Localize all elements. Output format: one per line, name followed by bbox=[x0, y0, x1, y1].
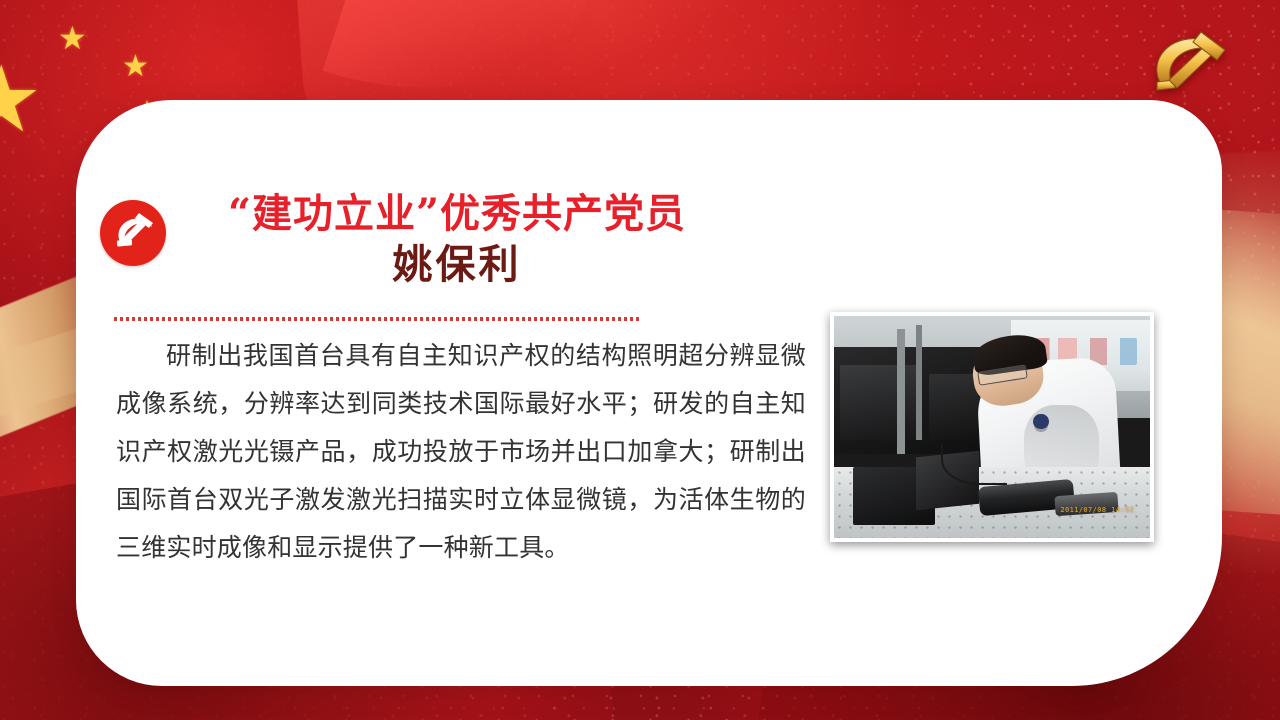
photo-timestamp: 2011/07/08 14:52 bbox=[1060, 506, 1134, 514]
person-photo: 2011/07/08 14:52 bbox=[830, 312, 1154, 542]
photo-equipment-box-1 bbox=[840, 365, 922, 440]
party-badge-icon bbox=[100, 200, 166, 266]
person-name: 姚保利 bbox=[192, 241, 722, 288]
slide-canvas: ★ ★ ★ ★ ★ bbox=[0, 0, 1280, 720]
content-card: “建功立业”优秀共产党员 姚保利 研制出我国首台具有自主知识产权的结构照明超分辨… bbox=[76, 100, 1222, 686]
photo-coat-logo bbox=[1033, 414, 1049, 430]
page-title: “建功立业”优秀共产党员 bbox=[192, 192, 722, 237]
title-block: “建功立业”优秀共产党员 姚保利 bbox=[192, 192, 722, 288]
photo-optical-post-2 bbox=[916, 325, 922, 440]
achievement-description: 研制出我国首台具有自主知识产权的结构照明超分辨显微成像系统，分辨率达到同类技术国… bbox=[116, 332, 806, 572]
party-emblem-gold-icon bbox=[1132, 22, 1242, 106]
dotted-divider bbox=[114, 317, 642, 321]
photo-optical-post-1 bbox=[897, 329, 905, 453]
slide-header: “建功立业”优秀共产党员 姚保利 bbox=[100, 192, 740, 288]
photo-scene: 2011/07/08 14:52 bbox=[834, 316, 1150, 538]
